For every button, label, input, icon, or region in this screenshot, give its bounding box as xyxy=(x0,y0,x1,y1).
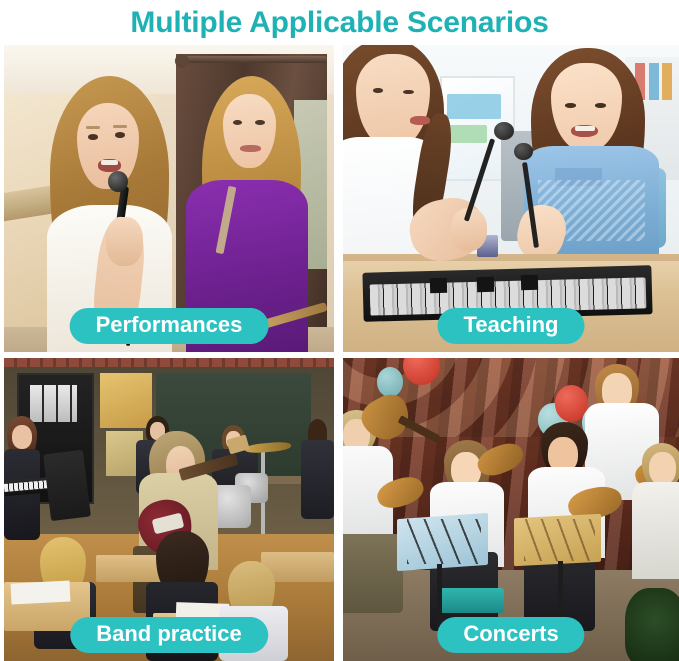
page-title: Multiple Applicable Scenarios xyxy=(0,0,679,45)
scenario-card-band-practice[interactable]: Band practice xyxy=(4,358,334,661)
badge-band-practice[interactable]: Band practice xyxy=(70,617,268,653)
badge-concerts[interactable]: Concerts xyxy=(437,617,584,653)
scenario-card-concerts[interactable]: Concerts xyxy=(343,358,679,661)
promo-page: Multiple Applicable Scenarios xyxy=(0,0,679,661)
badge-teaching[interactable]: Teaching xyxy=(438,308,585,344)
scenario-grid: Performances xyxy=(4,45,679,661)
scenario-card-performances[interactable]: Performances xyxy=(4,45,334,352)
photo-concerts xyxy=(343,358,679,661)
badge-performances[interactable]: Performances xyxy=(70,308,269,344)
photo-band-practice xyxy=(4,358,334,661)
scenario-card-teaching[interactable]: Teaching xyxy=(343,45,679,352)
photo-performances xyxy=(4,45,334,352)
photo-teaching xyxy=(343,45,679,352)
